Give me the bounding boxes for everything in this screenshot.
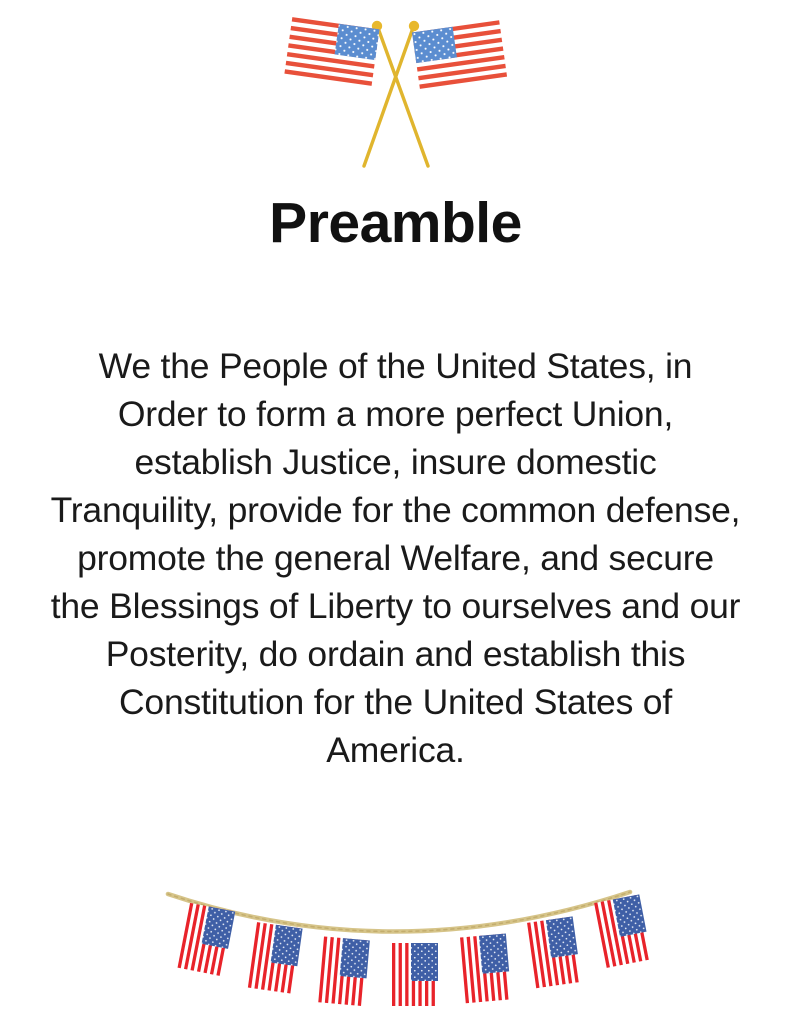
preamble-body-text: We the People of the United States, in O…	[50, 342, 741, 774]
flag-right	[410, 17, 509, 92]
bunting-flag	[318, 936, 370, 1006]
page-title: Preamble	[0, 192, 791, 255]
bunting-flag	[248, 922, 303, 994]
bunting-flag	[392, 943, 438, 1006]
bunting-flag	[460, 934, 512, 1004]
flag-left	[282, 14, 381, 89]
page-title-container: Preamble	[0, 192, 791, 255]
bunting-flag	[594, 894, 652, 968]
american-flag-bunting-icon	[0, 866, 791, 1006]
crossed-american-flags-icon	[0, 8, 791, 178]
bunting-flag	[527, 916, 582, 988]
preamble-text-container: We the People of the United States, in O…	[50, 342, 741, 774]
bunting-flag	[178, 903, 236, 977]
preamble-page: Preamble We the People of the United Sta…	[0, 0, 791, 1024]
